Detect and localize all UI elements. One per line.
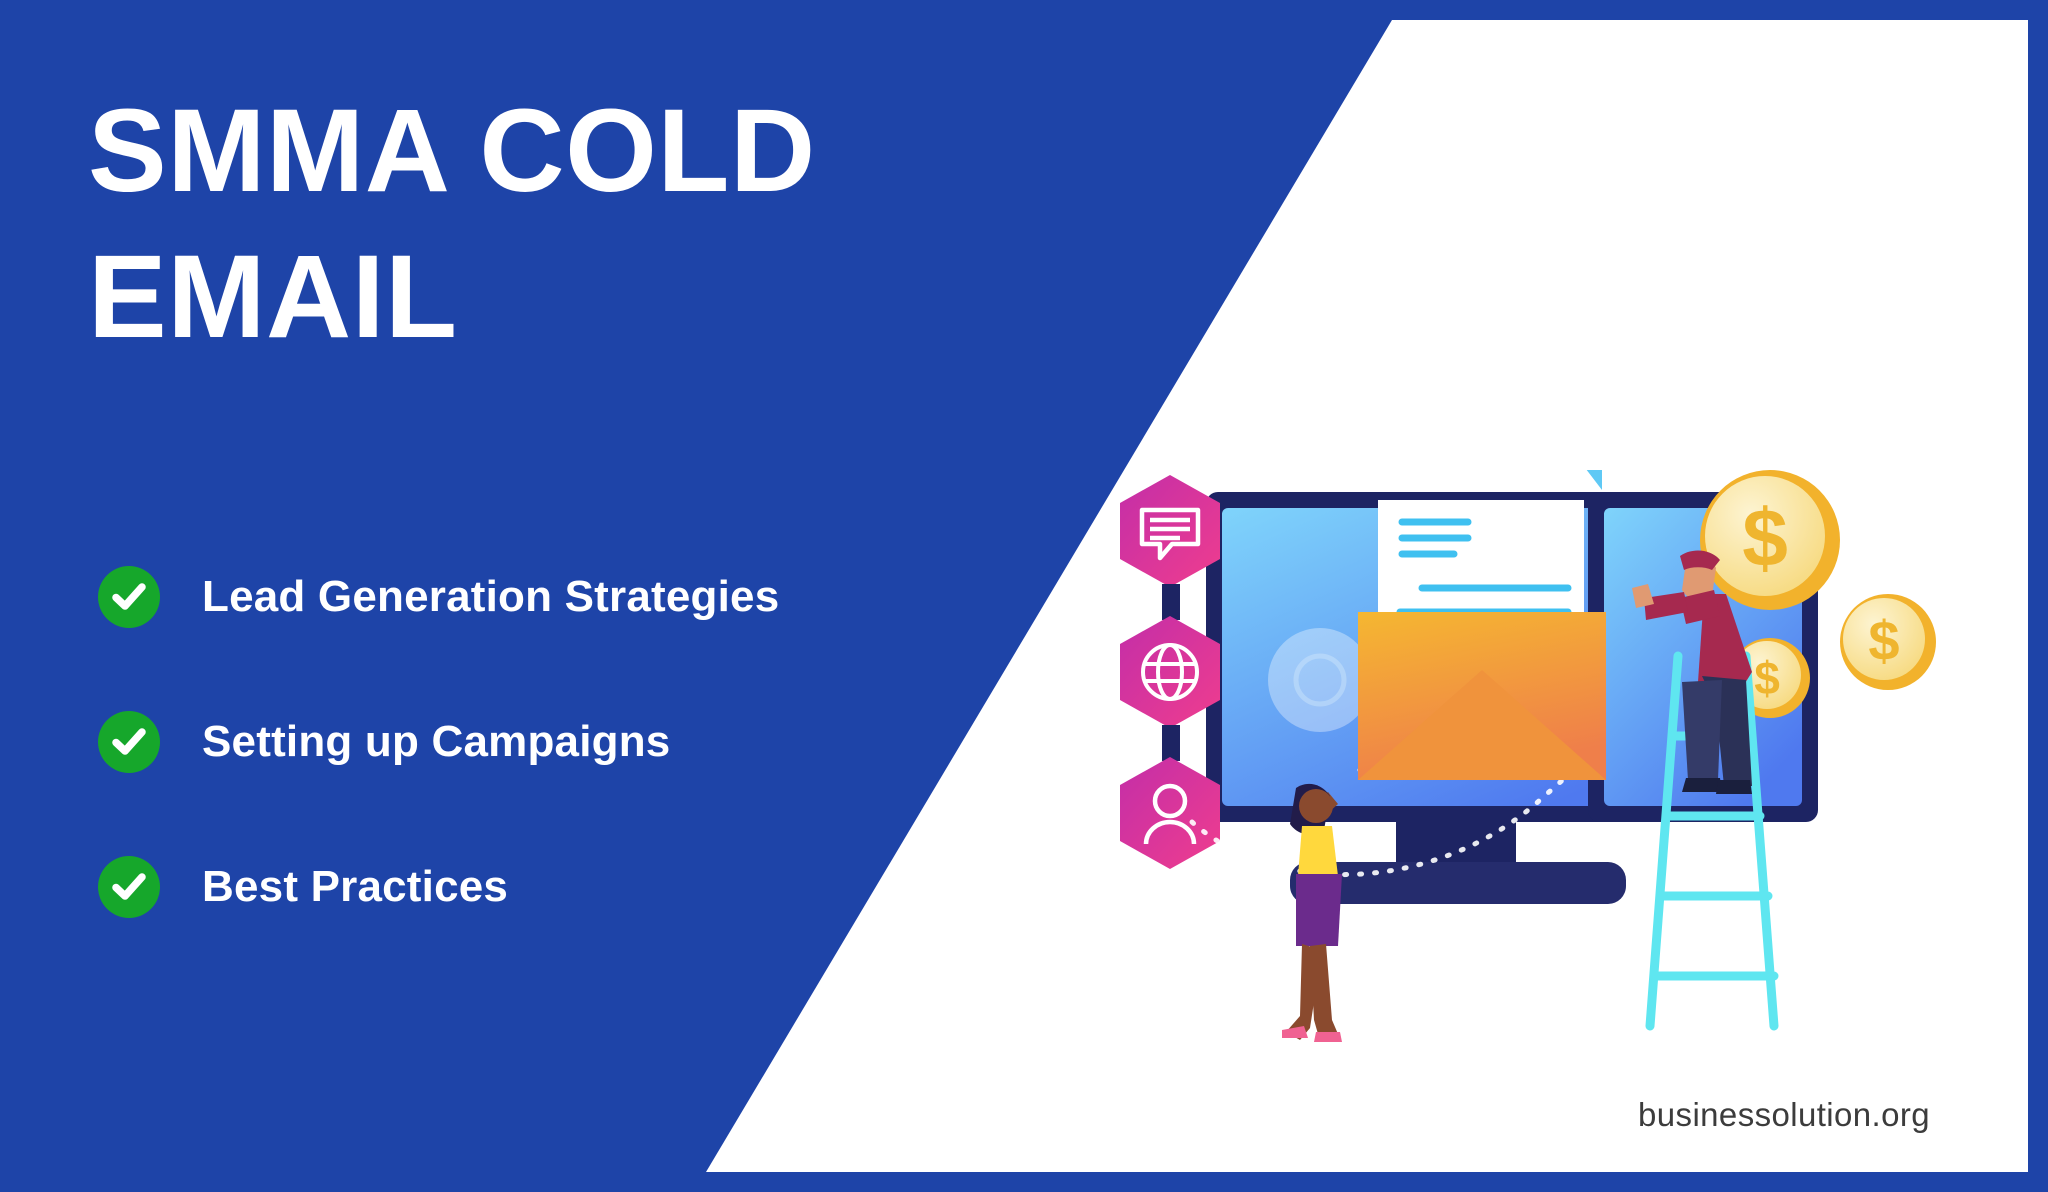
list-item: Lead Generation Strategies	[98, 558, 918, 636]
svg-text:$: $	[1754, 652, 1780, 704]
page-title: SMMA COLD EMAIL	[88, 78, 988, 371]
check-icon	[98, 711, 160, 773]
woman-pointing	[1282, 784, 1342, 1042]
checklist: Lead Generation Strategies Setting up Ca…	[98, 558, 918, 993]
checklist-item-label: Setting up Campaigns	[202, 717, 670, 767]
dollar-coin-icon-large: $	[1700, 470, 1840, 610]
list-item: Setting up Campaigns	[98, 703, 918, 781]
svg-text:$: $	[1868, 609, 1899, 672]
headline-line-1: SMMA COLD	[88, 85, 816, 217]
checklist-item-label: Best Practices	[202, 862, 508, 912]
checklist-item-label: Lead Generation Strategies	[202, 572, 779, 622]
triangle-accent	[1576, 470, 1602, 490]
svg-text:$: $	[1742, 493, 1788, 584]
dollar-coin-icon-medium: $	[1840, 594, 1936, 690]
check-icon	[98, 566, 160, 628]
email-marketing-illustration: $ $ $	[1110, 470, 1990, 1110]
hex-badge-globe	[1120, 616, 1220, 728]
hex-connector	[1162, 584, 1180, 620]
check-icon	[98, 856, 160, 918]
list-item: Best Practices	[98, 848, 918, 926]
hex-connector	[1162, 725, 1180, 761]
headline-line-2: EMAIL	[88, 224, 988, 370]
hex-badge-user	[1120, 757, 1220, 869]
hex-badge-chat	[1120, 475, 1220, 587]
slide-canvas: SMMA COLD EMAIL Lead Generation Strategi…	[0, 0, 2048, 1192]
